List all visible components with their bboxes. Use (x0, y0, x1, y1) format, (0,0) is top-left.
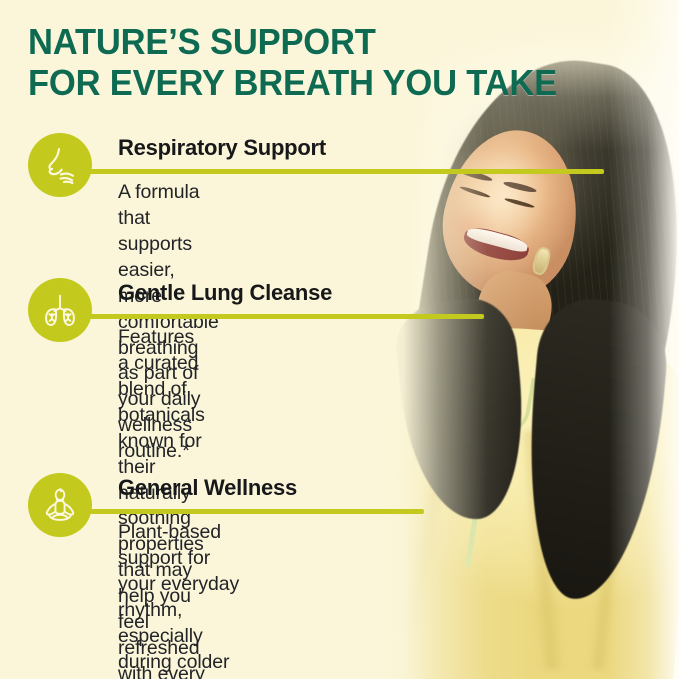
page-title: NATURE’S SUPPORT FOR EVERY BREATH YOU TA… (28, 22, 557, 103)
feature-divider (76, 169, 604, 174)
lungs-icon (28, 278, 92, 342)
feature-divider (76, 509, 424, 514)
meditation-lotus-icon (28, 473, 92, 537)
feature-divider (76, 314, 484, 319)
feature-title: Respiratory Support (118, 135, 326, 161)
feature-title: Gentle Lung Cleanse (118, 280, 332, 306)
nose-breathing-icon (28, 133, 92, 197)
feature-title: General Wellness (118, 475, 297, 501)
feature-description: Plant-based support for your everyday rh… (118, 520, 239, 679)
promo-banner: NATURE’S SUPPORT FOR EVERY BREATH YOU TA… (0, 0, 679, 679)
